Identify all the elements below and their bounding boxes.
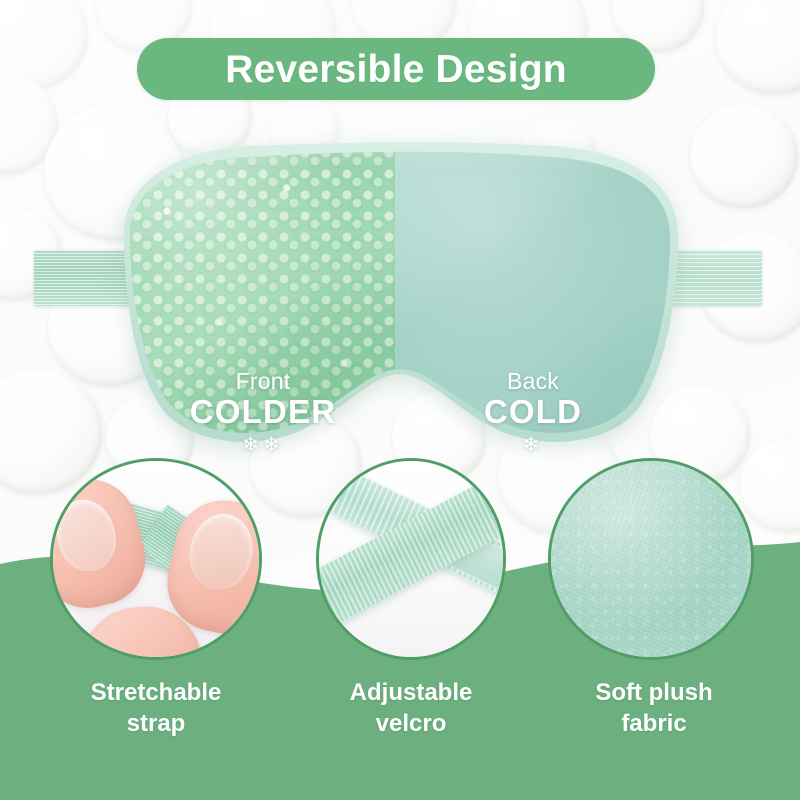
- velcro-strap-tip: [316, 578, 330, 624]
- back-side-label: Back: [438, 370, 628, 393]
- front-temperature-label: COLDER: [168, 395, 358, 429]
- photo-fingers-stretching-band: [53, 461, 259, 657]
- caption-1-line-2: strap: [127, 710, 186, 737]
- caption-3-line-1: Soft plush: [595, 679, 712, 706]
- fingernail-left: [50, 494, 123, 578]
- mask-label-back: Back COLD ❄: [438, 370, 628, 456]
- page-title: Reversible Design: [225, 50, 567, 89]
- mask-label-front: Front COLDER ❄❄: [168, 370, 358, 456]
- title-banner: Reversible Design: [137, 38, 655, 100]
- product-infographic: Reversible Design Front COLDER ❄❄ Back C…: [0, 0, 800, 800]
- caption-adjustable-velcro: Adjustable velcro: [310, 678, 512, 739]
- snowflake-icon-double: ❄❄: [168, 435, 358, 455]
- fingernail-right: [183, 508, 259, 595]
- caption-3-line-2: fabric: [621, 710, 686, 737]
- caption-2-line-1: Adjustable: [350, 679, 473, 706]
- feature-photo-adjustable-velcro: [316, 458, 506, 660]
- back-temperature-label: COLD: [438, 395, 628, 429]
- finger-left: [50, 468, 155, 617]
- front-side-label: Front: [168, 370, 358, 393]
- eye-mask-illustration: Front COLDER ❄❄ Back COLD ❄: [0, 130, 800, 450]
- caption-soft-plush-fabric: Soft plush fabric: [556, 678, 752, 739]
- caption-2-line-2: velcro: [376, 710, 447, 737]
- feature-photo-stretchable-strap: [50, 458, 262, 660]
- photo-crossed-velcro-straps: [319, 461, 503, 657]
- snowflake-icon-single: ❄: [438, 435, 628, 455]
- caption-1-line-1: Stretchable: [91, 679, 222, 706]
- feature-photo-soft-plush-fabric: [548, 458, 754, 660]
- caption-stretchable-strap: Stretchable strap: [40, 678, 272, 739]
- photo-plush-fabric-closeup: [551, 461, 751, 657]
